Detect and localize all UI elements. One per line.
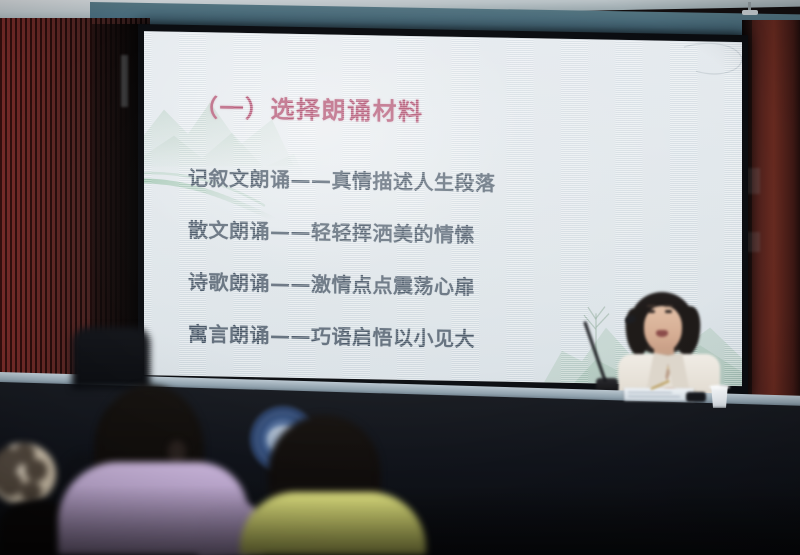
desk-device [686,392,706,402]
paper-cup-rim [709,385,730,389]
speaker-mouth [656,330,668,337]
paper-text-line [628,392,672,393]
lecture-room-photo: （一）选择朗诵材料 记叙文朗诵——真情描述人生段落 散文朗诵——轻轻挥洒美的情愫… [0,0,800,555]
paper-text-line [628,396,680,397]
attendee-yellow-shirt [240,492,426,555]
ceiling-sprinkler-icon [742,2,758,16]
chair-back-rear [72,327,150,389]
attendee-lavender-ear [168,440,186,464]
speaker-brow-left [647,305,656,307]
slide-title: （一）选择朗诵材料 [194,88,424,127]
paper-cup [710,386,729,408]
speaker-eye-right [665,310,672,313]
papers-stack [624,388,694,402]
left-wall-highlight [121,55,128,107]
speaker-brow-right [664,305,673,307]
slide-line: 记叙文朗诵——真情描述人生段落 [188,162,688,200]
speaker-eye-left [648,310,655,313]
slide-line: 散文朗诵——轻轻挥洒美的情愫 [188,214,688,252]
